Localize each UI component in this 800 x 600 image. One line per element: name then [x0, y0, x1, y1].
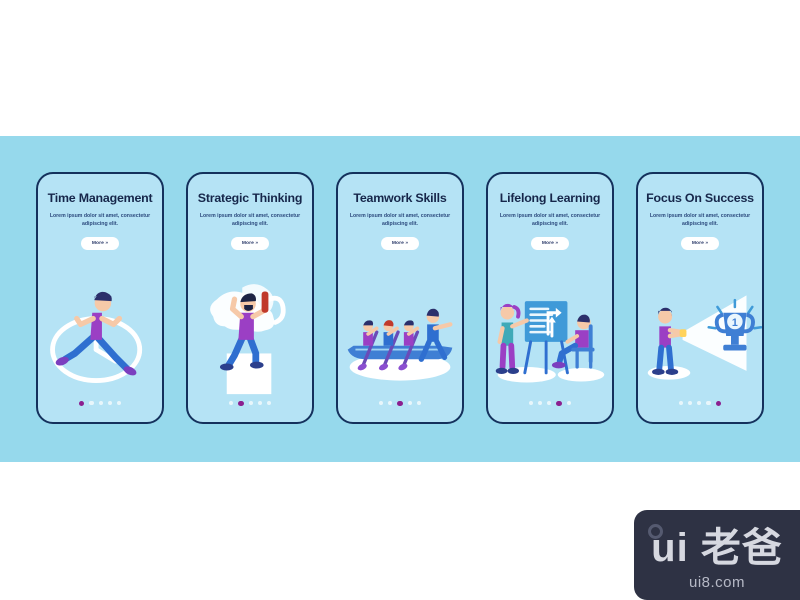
onboarding-card-lifelong-learning[interactable]: Lifelong Learning Lorem ipsum dolor sit …: [486, 172, 614, 424]
pagination-dot[interactable]: [397, 401, 402, 406]
pagination-dots[interactable]: [638, 401, 762, 406]
more-button[interactable]: More »: [381, 237, 419, 250]
pagination-dot[interactable]: [679, 401, 683, 405]
pagination-dot[interactable]: [258, 401, 262, 405]
person-chess-knight-illustration: [188, 276, 312, 396]
card-body-text: Lorem ipsum dolor sit amet, consectetur …: [346, 213, 454, 228]
pagination-dot[interactable]: [538, 401, 542, 405]
pagination-dot[interactable]: [267, 401, 271, 405]
pagination-dots[interactable]: [338, 401, 462, 406]
pagination-dots[interactable]: [38, 401, 162, 406]
pagination-dot[interactable]: [238, 401, 243, 406]
pagination-dot[interactable]: [99, 401, 103, 405]
pagination-dot[interactable]: [388, 401, 392, 405]
pagination-dot[interactable]: [249, 401, 253, 405]
pagination-dots[interactable]: [488, 401, 612, 406]
card-body-text: Lorem ipsum dolor sit amet, consectetur …: [46, 213, 154, 228]
pagination-dot[interactable]: [706, 401, 710, 405]
running-person-clock-illustration: [38, 276, 162, 396]
more-button[interactable]: More »: [231, 237, 269, 250]
pagination-dot[interactable]: [688, 401, 692, 405]
card-body-text: Lorem ipsum dolor sit amet, consectetur …: [646, 213, 754, 228]
pagination-dot[interactable]: [697, 401, 701, 405]
more-button[interactable]: More »: [681, 237, 719, 250]
card-body-text: Lorem ipsum dolor sit amet, consectetur …: [496, 213, 604, 228]
onboarding-card-row: Time Management Lorem ipsum dolor sit am…: [0, 172, 800, 426]
watermark-badge: ui 老爸 ui8.com: [634, 510, 800, 600]
pagination-dot[interactable]: [408, 401, 412, 405]
onboarding-card-focus-on-success[interactable]: Focus On Success Lorem ipsum dolor sit a…: [636, 172, 764, 424]
pagination-dot[interactable]: [417, 401, 421, 405]
pagination-dot[interactable]: [108, 401, 112, 405]
pagination-dot[interactable]: [89, 401, 93, 405]
pagination-dots[interactable]: [188, 401, 312, 406]
watermark-url-text: ui8.com: [634, 574, 800, 591]
teacher-flipchart-student-illustration: [488, 276, 612, 396]
pagination-dot[interactable]: [229, 401, 233, 405]
card-title: Teamwork Skills: [344, 191, 456, 205]
onboarding-card-teamwork-skills[interactable]: Teamwork Skills Lorem ipsum dolor sit am…: [336, 172, 464, 424]
card-title: Focus On Success: [644, 191, 756, 205]
card-title: Time Management: [44, 191, 156, 205]
watermark-logo-text: ui 老爸: [634, 528, 800, 568]
pagination-dot[interactable]: [117, 401, 121, 405]
pagination-dot[interactable]: [379, 401, 383, 405]
pagination-dot[interactable]: [547, 401, 551, 405]
screenshot-canvas: Time Management Lorem ipsum dolor sit am…: [0, 0, 800, 600]
card-title: Lifelong Learning: [494, 191, 606, 205]
pagination-dot[interactable]: [716, 401, 721, 406]
pagination-dot[interactable]: [556, 401, 561, 406]
pagination-dot[interactable]: [567, 401, 571, 405]
card-body-text: Lorem ipsum dolor sit amet, consectetur …: [196, 213, 304, 228]
pagination-dot[interactable]: [529, 401, 533, 405]
card-title: Strategic Thinking: [194, 191, 306, 205]
svg-text:1: 1: [732, 317, 738, 329]
flashlight-trophy-illustration: 1: [638, 276, 762, 396]
rowing-team-boat-illustration: [338, 276, 462, 396]
onboarding-card-time-management[interactable]: Time Management Lorem ipsum dolor sit am…: [36, 172, 164, 424]
more-button[interactable]: More »: [81, 237, 119, 250]
onboarding-card-strategic-thinking[interactable]: Strategic Thinking Lorem ipsum dolor sit…: [186, 172, 314, 424]
pagination-dot[interactable]: [79, 401, 84, 406]
more-button[interactable]: More »: [531, 237, 569, 250]
